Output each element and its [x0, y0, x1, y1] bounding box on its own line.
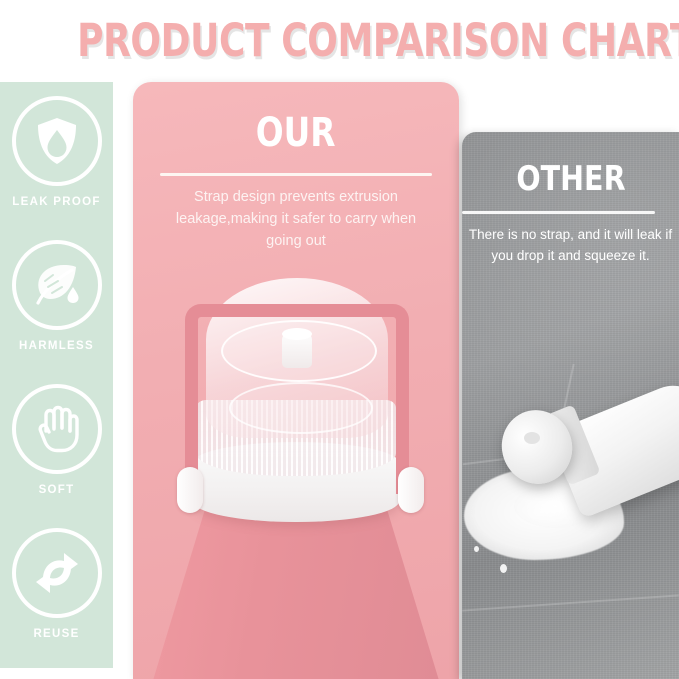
hand-icon: [12, 384, 102, 474]
bottle-spout-top: [282, 328, 312, 340]
bottle-body: [151, 477, 441, 679]
page-title-text: PRODUCT COMPARISON CHART: [77, 10, 679, 72]
our-panel-divider: [160, 173, 432, 176]
feature-label: REUSE: [0, 628, 113, 640]
our-panel-heading: OUR: [133, 110, 459, 156]
our-product-image: [133, 82, 459, 679]
recycle-arrows-icon: [12, 528, 102, 618]
our-panel-heading-text: OUR: [256, 110, 336, 156]
feature-label: LEAK PROOF: [0, 196, 113, 208]
other-panel-divider: [462, 211, 655, 214]
other-panel-heading-text: OTHER: [516, 159, 625, 199]
page-title: PRODUCT COMPARISON CHART: [0, 10, 679, 72]
other-panel-heading: OTHER: [462, 159, 679, 199]
bottle-spout: [282, 332, 312, 368]
feature-label: HARMLESS: [0, 340, 113, 352]
bottle-strap: [185, 304, 409, 494]
our-product-panel: OUR Strap design prevents extrusion leak…: [133, 82, 459, 679]
feature-item-soft: SOFT: [0, 384, 113, 496]
product-comparison-chart: PRODUCT COMPARISON CHART LEAK PROOF: [0, 0, 679, 679]
feature-item-leak-proof: LEAK PROOF: [0, 96, 113, 208]
bottle-strap-knob-right: [398, 467, 424, 513]
our-panel-description: Strap design prevents extrusion leakage,…: [163, 186, 429, 252]
bottle-cap-dome: [206, 278, 388, 438]
bottle-cap-base: [193, 442, 399, 522]
shield-droplet-icon: [12, 96, 102, 186]
other-panel-description: There is no strap, and it will leak if y…: [468, 224, 673, 266]
bottle-strap-knob-left: [177, 467, 203, 513]
bottle-cap-inner-ring-lower: [229, 382, 373, 434]
bottle-cap-inner-ring: [221, 320, 377, 382]
other-product-panel: OTHER There is no strap, and it will lea…: [462, 132, 679, 679]
feature-item-harmless: HARMLESS: [0, 240, 113, 352]
feature-sidebar: LEAK PROOF HARMLESS: [0, 82, 113, 668]
feature-item-reuse: REUSE: [0, 528, 113, 640]
feature-label: SOFT: [0, 484, 113, 496]
bottle-cap-ribbed-collar: [196, 400, 396, 476]
leaf-droplet-icon: [12, 240, 102, 330]
